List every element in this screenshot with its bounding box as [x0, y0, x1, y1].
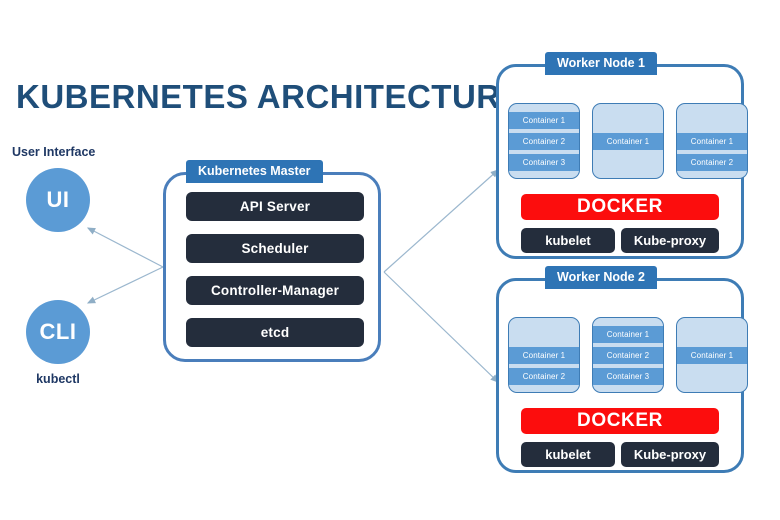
connector-master-to-cli	[88, 267, 163, 303]
worker2-pod1-spacer-top	[509, 326, 579, 343]
worker2-docker-runtime[interactable]: DOCKER	[521, 408, 719, 434]
cli-client-label: CLI	[40, 319, 77, 345]
worker2-pod1-container-1: Container 1	[509, 347, 579, 364]
worker2-pod3-spacer-top	[677, 326, 747, 343]
worker1-pod2-container-1: Container 1	[593, 133, 663, 150]
worker1-kube-proxy[interactable]: Kube-proxy	[621, 228, 719, 253]
worker1-pod1-container-1: Container 1	[509, 112, 579, 129]
master-node-tab: Kubernetes Master	[186, 160, 323, 183]
worker1-pod1-container-3: Container 3	[509, 154, 579, 171]
worker2-pod-2[interactable]: Container 1 Container 2 Container 3	[592, 317, 664, 393]
worker1-pod2-spacer-top	[593, 112, 663, 129]
worker-node-2-tab: Worker Node 2	[545, 266, 657, 289]
worker2-pod2-container-2: Container 2	[593, 347, 663, 364]
kubernetes-master-node: API Server Scheduler Controller-Manager …	[163, 172, 381, 362]
worker2-pod3-container-1: Container 1	[677, 347, 747, 364]
worker1-docker-runtime[interactable]: DOCKER	[521, 194, 719, 220]
master-component-controller-manager[interactable]: Controller-Manager	[186, 276, 364, 305]
worker1-pod1-container-2: Container 2	[509, 133, 579, 150]
worker2-kubelet[interactable]: kubelet	[521, 442, 615, 467]
master-component-api-server[interactable]: API Server	[186, 192, 364, 221]
worker2-pod3-spacer-bottom	[677, 368, 747, 385]
connector-master-to-ui	[88, 228, 163, 267]
master-component-etcd[interactable]: etcd	[186, 318, 364, 347]
worker1-pod3-container-2: Container 2	[677, 154, 747, 171]
master-component-scheduler[interactable]: Scheduler	[186, 234, 364, 263]
worker1-pod-1[interactable]: Container 1 Container 2 Container 3	[508, 103, 580, 179]
connector-master-to-worker2	[384, 272, 498, 382]
worker2-pod1-container-2: Container 2	[509, 368, 579, 385]
worker2-pod-1[interactable]: Container 1 Container 2	[508, 317, 580, 393]
connector-master-to-worker1	[384, 170, 498, 272]
architecture-diagram: KUBERNETES ARCHITECTURE User Interface U…	[0, 0, 780, 520]
cli-client-node[interactable]: CLI	[26, 300, 90, 364]
worker2-pod2-container-3: Container 3	[593, 368, 663, 385]
worker2-kube-proxy[interactable]: Kube-proxy	[621, 442, 719, 467]
user-interface-label: User Interface	[12, 145, 95, 159]
page-title: KUBERNETES ARCHITECTURE	[16, 78, 523, 116]
kubectl-caption: kubectl	[26, 372, 90, 386]
worker1-pod3-container-1: Container 1	[677, 133, 747, 150]
worker1-pod-2[interactable]: Container 1	[592, 103, 664, 179]
worker1-pod2-spacer-bottom	[593, 154, 663, 171]
ui-client-label: UI	[47, 187, 70, 213]
worker1-pod-3[interactable]: Container 1 Container 2	[676, 103, 748, 179]
worker1-pod3-spacer-top	[677, 112, 747, 129]
worker2-pod-3[interactable]: Container 1	[676, 317, 748, 393]
worker-node-1-tab: Worker Node 1	[545, 52, 657, 75]
worker2-pod2-container-1: Container 1	[593, 326, 663, 343]
ui-client-node[interactable]: UI	[26, 168, 90, 232]
worker1-kubelet[interactable]: kubelet	[521, 228, 615, 253]
